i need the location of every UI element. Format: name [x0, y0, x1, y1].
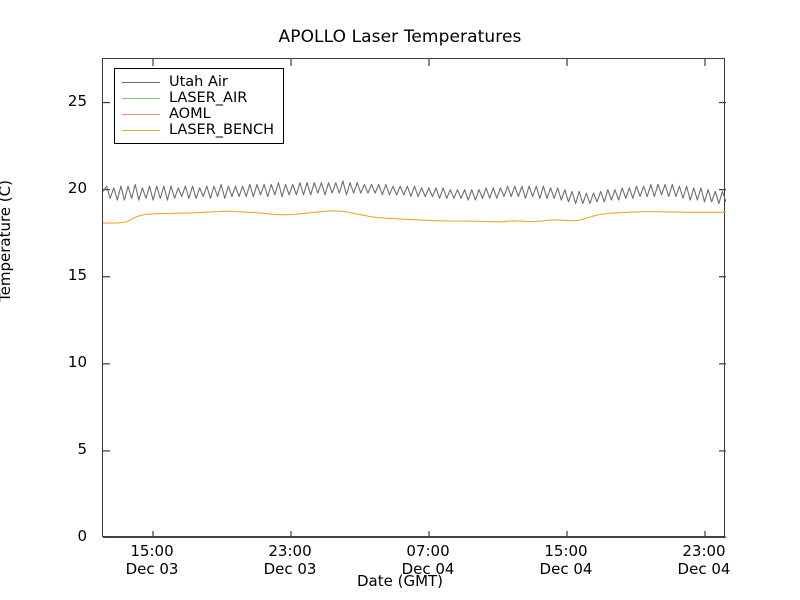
x-tick-time: 07:00	[368, 543, 488, 561]
chart-figure: APOLLO Laser Temperatures Temperature (C…	[0, 0, 800, 600]
y-tick-label: 15	[27, 268, 87, 283]
x-tick-time: 15:00	[92, 543, 212, 561]
x-tick-time: 23:00	[644, 543, 764, 561]
x-tick-time: 15:00	[506, 543, 626, 561]
chart-legend: Utah AirLASER_AIRAOMLLASER_BENCH	[114, 68, 284, 144]
legend-color-swatch	[122, 82, 160, 83]
legend-label: LASER_BENCH	[169, 122, 274, 138]
x-tick-time: 23:00	[230, 543, 350, 561]
y-tick-label: 10	[27, 355, 87, 370]
y-tick-label: 25	[27, 94, 87, 109]
legend-entry[interactable]: AOML	[122, 106, 274, 122]
y-tick-label: 20	[27, 181, 87, 196]
x-axis-label: Date (GMT)	[0, 572, 800, 590]
legend-entry[interactable]: LASER_AIR	[122, 90, 274, 106]
y-tick-label: 0	[27, 529, 87, 544]
legend-label: AOML	[169, 106, 211, 122]
legend-color-swatch	[122, 98, 160, 99]
y-tick-label: 5	[27, 442, 87, 457]
legend-color-swatch	[122, 130, 160, 131]
legend-label: Utah Air	[169, 74, 228, 90]
legend-color-swatch	[122, 114, 160, 115]
chart-title: APOLLO Laser Temperatures	[0, 27, 800, 47]
y-axis-label: Temperature (C)	[0, 0, 14, 521]
legend-entry[interactable]: Utah Air	[122, 74, 274, 90]
series-line-utah-air	[103, 181, 726, 204]
series-line-laser-bench	[103, 211, 726, 223]
legend-label: LASER_AIR	[169, 90, 247, 106]
legend-entry[interactable]: LASER_BENCH	[122, 122, 274, 138]
